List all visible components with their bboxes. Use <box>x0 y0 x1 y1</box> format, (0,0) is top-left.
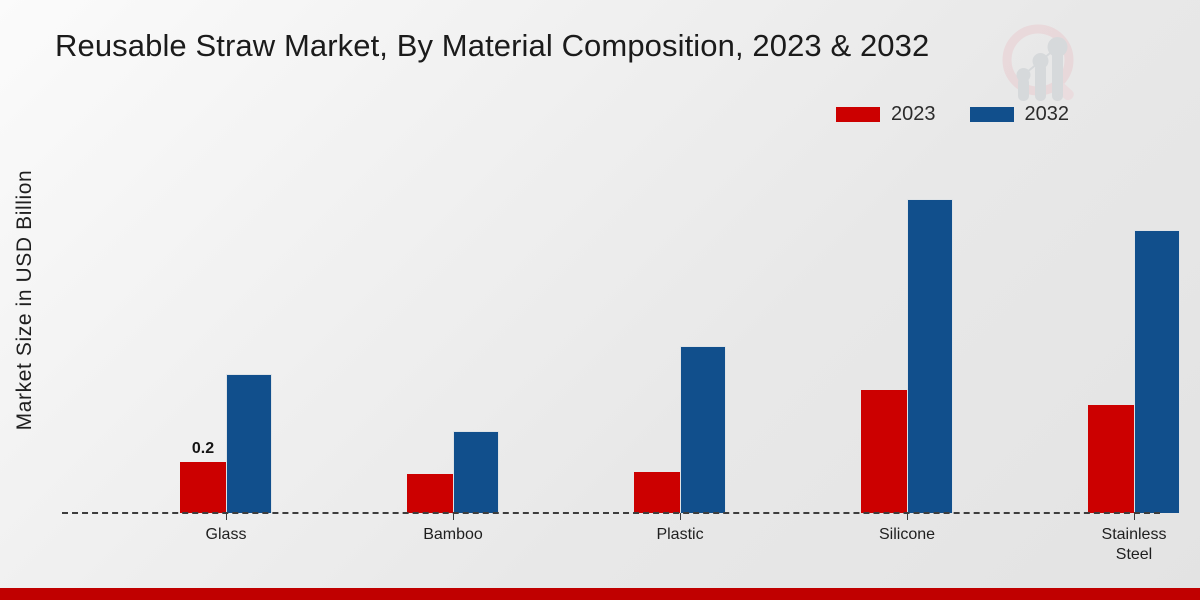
x-axis-label-bamboo: Bamboo <box>353 525 553 545</box>
bar-pair <box>634 140 726 513</box>
bar-2023-plastic[interactable] <box>634 472 680 513</box>
plot-area: 0.2GlassBambooPlasticSiliconeStainlessSt… <box>62 140 1160 513</box>
watermark-logo-icon <box>1000 22 1090 106</box>
magnifier-ring-icon <box>1007 29 1076 102</box>
trend-dots-icon <box>1017 37 1068 82</box>
bar-group <box>1088 140 1182 513</box>
x-axis-label-stainless-steel: StainlessSteel <box>1034 525 1200 564</box>
chart-legend: 2023 2032 <box>836 103 1069 126</box>
x-axis-tick <box>680 513 681 520</box>
bar-pair <box>861 140 953 513</box>
legend-label-2032: 2032 <box>1025 103 1070 126</box>
bar-pair: 0.2 <box>180 140 272 513</box>
bar-2032-plastic[interactable] <box>680 346 726 513</box>
bar-2032-bamboo[interactable] <box>453 431 499 513</box>
x-axis-label-glass: Glass <box>126 525 326 545</box>
legend-swatch-2023 <box>836 107 880 122</box>
legend-item-2023[interactable]: 2023 <box>836 103 936 126</box>
bar-value-label: 0.2 <box>192 440 214 458</box>
bar-2023-stainless-steel[interactable] <box>1088 405 1134 513</box>
bar-2023-silicone[interactable] <box>861 390 907 513</box>
legend-item-2032[interactable]: 2032 <box>970 103 1070 126</box>
trend-line-icon <box>1024 47 1058 75</box>
chart-container: Reusable Straw Market, By Material Compo… <box>0 0 1200 600</box>
chart-title: Reusable Straw Market, By Material Compo… <box>55 28 929 64</box>
bar-2032-glass[interactable] <box>226 374 272 513</box>
legend-label-2023: 2023 <box>891 103 936 126</box>
bar-group <box>634 140 728 513</box>
bar-pair <box>407 140 499 513</box>
bar-group <box>407 140 501 513</box>
y-axis-title: Market Size in USD Billion <box>8 0 42 600</box>
x-axis-tick <box>1134 513 1135 520</box>
bar-group <box>861 140 955 513</box>
legend-swatch-2032 <box>970 107 1014 122</box>
bar-group-icon <box>1018 50 1063 101</box>
x-axis-label-silicone: Silicone <box>807 525 1007 545</box>
bar-2023-bamboo[interactable] <box>407 474 453 513</box>
bottom-accent-bar <box>0 588 1200 600</box>
x-axis-label-plastic: Plastic <box>580 525 780 545</box>
bar-group: 0.2 <box>180 140 274 513</box>
bar-pair <box>1088 140 1180 513</box>
x-axis-baseline <box>62 512 1160 514</box>
x-axis-tick <box>453 513 454 520</box>
bar-2032-stainless-steel[interactable] <box>1134 230 1180 513</box>
bar-2032-silicone[interactable] <box>907 199 953 513</box>
x-axis-tick <box>226 513 227 520</box>
bar-2023-glass[interactable]: 0.2 <box>180 462 226 513</box>
x-axis-tick <box>907 513 908 520</box>
